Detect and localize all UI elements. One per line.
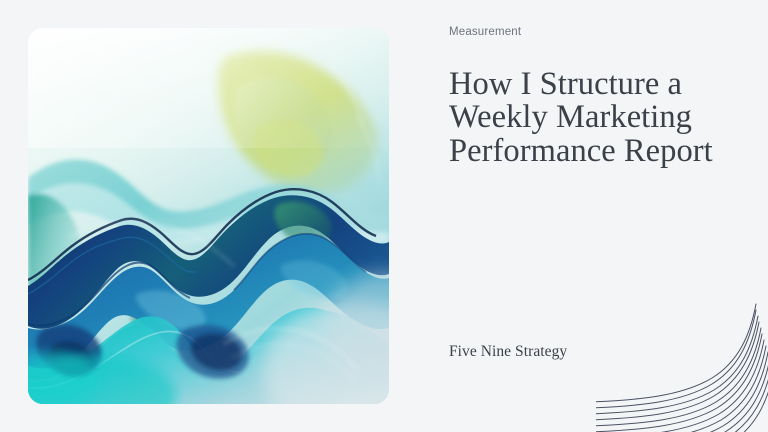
abstract-waves-illustration (28, 28, 389, 404)
title-line-2: Weekly Marketing (449, 101, 759, 135)
eyebrow-category-label: Measurement (449, 26, 749, 40)
title-line-3: Performance Report (449, 135, 759, 169)
artwork-image (28, 28, 389, 404)
flowing-lines-graphic (596, 296, 768, 432)
page-title: How I Structure a Weekly Marketing Perfo… (449, 68, 759, 169)
brand-name: Five Nine Strategy (449, 343, 567, 362)
title-line-1: How I Structure a (449, 68, 759, 102)
slide-canvas: Measurement How I Structure a Weekly Mar… (0, 0, 768, 432)
text-column: Measurement How I Structure a Weekly Mar… (449, 26, 749, 168)
corner-line-decoration (596, 296, 768, 432)
